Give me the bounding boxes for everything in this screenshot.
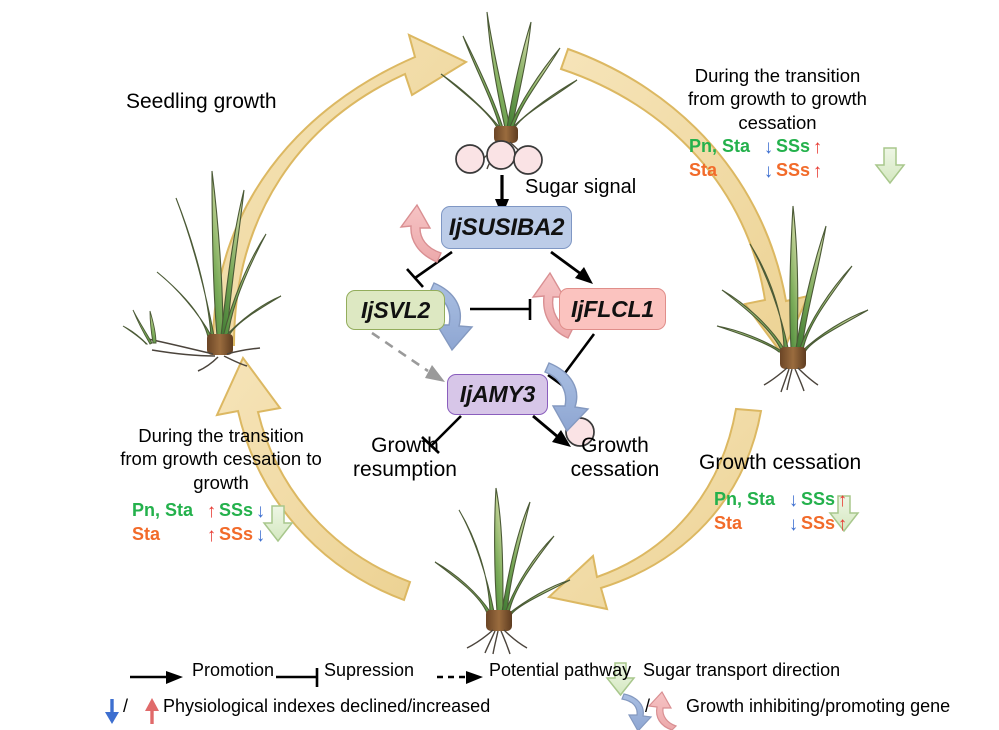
- sugar-arrow-down: ↓: [253, 526, 268, 545]
- annotation-heading: During the transition from growth to gro…: [675, 64, 880, 134]
- index-label: Pn, Sta: [132, 500, 204, 521]
- label-growth-cessation-node: Growth cessation: [556, 434, 674, 483]
- annotation-row: Pn, Sta ↓ SSs ↑: [675, 136, 880, 160]
- index-arrow-up: ↑: [204, 502, 219, 521]
- legend-slash-1: /: [123, 696, 128, 717]
- gene-label-susiba2: IjSUSIBA2: [449, 214, 565, 242]
- sugar-label: SSs: [801, 489, 835, 510]
- sugar-arrow-down: ↓: [253, 502, 268, 521]
- index-label: Sta: [132, 524, 204, 545]
- index-label: Sta: [689, 160, 761, 181]
- index-label: Sta: [714, 513, 786, 534]
- index-label: Pn, Sta: [689, 136, 761, 157]
- sugar-label: SSs: [219, 524, 253, 545]
- index-arrow-up: ↑: [204, 526, 219, 545]
- sugar-arrow-up: ↑: [835, 515, 850, 534]
- annotation-growth-to-cessation: During the transition from growth to gro…: [675, 64, 880, 184]
- gene-label-svl2: IjSVL2: [361, 297, 430, 324]
- annotation-row: Pn, Sta ↓ SSs ↑: [700, 489, 906, 513]
- legend-separator-genes: /: [645, 696, 650, 717]
- label-growth-cessation-stage: Growth cessation: [699, 451, 861, 475]
- index-arrow-down: ↓: [786, 515, 801, 534]
- sugar-arrow-up: ↑: [835, 491, 850, 510]
- legend-row-1: Promotion Supression Potential pathway S…: [100, 660, 900, 690]
- legend: Promotion Supression Potential pathway S…: [100, 660, 900, 726]
- legend-row-2: / Physiological indexes declined/increas…: [100, 696, 900, 726]
- legend-item-supression: Supression: [324, 660, 414, 681]
- annotation-rows: Pn, Sta ↑ SSs ↓ Sta ↑ SSs ↓: [118, 500, 324, 548]
- legend-label-promotion: Promotion: [192, 660, 274, 681]
- sugar-arrow-up: ↑: [810, 138, 825, 157]
- label-growth-resumption: Growth resumption: [340, 434, 470, 483]
- annotation-rows: Pn, Sta ↓ SSs ↑ Sta ↓ SSs ↑: [700, 489, 906, 537]
- legend-item-sugar-transport: Sugar transport direction: [643, 660, 840, 681]
- legend-label-growth-genes: Growth inhibiting/promoting gene: [686, 696, 950, 717]
- plant-bottom-center: [435, 488, 570, 654]
- annotation-row: Sta ↓ SSs ↑: [675, 160, 880, 184]
- label-seedling-growth: Seedling growth: [126, 90, 277, 114]
- sugar-label: SSs: [776, 136, 810, 157]
- plant-right: [717, 206, 868, 392]
- promote-susiba2-to-flcl1: [551, 252, 593, 284]
- sugar-label: SSs: [776, 160, 810, 181]
- legend-item-potential-pathway: Potential pathway: [489, 660, 631, 681]
- gene-box-amy3[interactable]: IjAMY3: [447, 374, 548, 415]
- gene-label-flcl1: IjFLCL1: [571, 296, 654, 323]
- sugar-label: SSs: [801, 513, 835, 534]
- index-label: Pn, Sta: [714, 489, 786, 510]
- legend-slash-2: /: [645, 696, 650, 717]
- gene-label-amy3: IjAMY3: [460, 381, 535, 408]
- gene-box-susiba2[interactable]: IjSUSIBA2: [441, 206, 572, 249]
- legend-item-promotion: Promotion: [192, 660, 274, 681]
- legend-item-physiological-indexes: Physiological indexes declined/increased: [163, 696, 490, 717]
- annotation-heading: During the transition from growth cessat…: [118, 424, 324, 494]
- index-arrow-down: ↓: [761, 138, 776, 157]
- gene-box-flcl1[interactable]: IjFLCL1: [559, 288, 666, 330]
- sugar-transport-arrow-top-right: [876, 148, 904, 183]
- annotation-growth-cessation-state: Pn, Sta ↓ SSs ↑ Sta ↓ SSs ↑: [700, 487, 906, 537]
- legend-separator-indexes: /: [123, 696, 128, 717]
- index-arrow-down: ↓: [786, 491, 801, 510]
- index-arrow-down: ↓: [761, 162, 776, 181]
- annotation-rows: Pn, Sta ↓ SSs ↑ Sta ↓ SSs ↑: [675, 136, 880, 184]
- promoting-gene-arrow-susiba2: [401, 205, 441, 262]
- potential-pathway-svl2-to-amy3: [372, 333, 445, 382]
- legend-label-physiological-indexes: Physiological indexes declined/increased: [163, 696, 490, 717]
- annotation-row: Sta ↓ SSs ↑: [700, 513, 906, 537]
- gene-box-svl2[interactable]: IjSVL2: [346, 290, 445, 330]
- annotation-row: Sta ↑ SSs ↓: [118, 524, 324, 548]
- legend-label-sugar-transport: Sugar transport direction: [643, 660, 840, 681]
- sugar-blobs: [456, 141, 542, 174]
- legend-item-growth-genes: Growth inhibiting/promoting gene: [686, 696, 950, 717]
- figure-canvas: IjSUSIBA2 IjSVL2 IjFLCL1 IjAMY3 Seedling…: [0, 0, 999, 730]
- legend-label-potential-pathway: Potential pathway: [489, 660, 631, 681]
- sugar-arrow-up: ↑: [810, 162, 825, 181]
- legend-label-supression: Supression: [324, 660, 414, 681]
- label-sugar-signal: Sugar signal: [525, 176, 636, 199]
- annotation-cessation-to-growth: During the transition from growth cessat…: [118, 424, 324, 548]
- annotation-row: Pn, Sta ↑ SSs ↓: [118, 500, 324, 524]
- sugar-label: SSs: [219, 500, 253, 521]
- inhibit-svl2-to-flcl1: [470, 299, 530, 320]
